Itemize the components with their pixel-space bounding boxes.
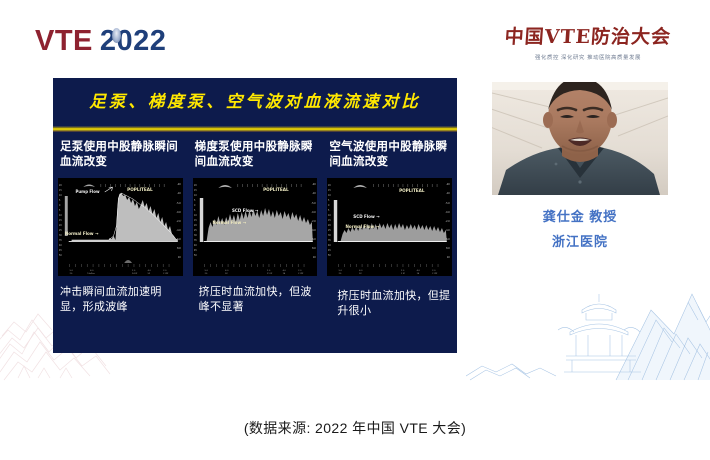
- svg-text:-4.0: -4.0: [176, 229, 181, 232]
- slide-title: 足泵、梯度泵、空气波对血液流速对比: [53, 88, 457, 112]
- svg-text:-20: -20: [312, 183, 316, 186]
- svg-text:SCD Flow →: SCD Flow →: [232, 208, 259, 213]
- svg-text:-0.0: -0.0: [446, 211, 451, 214]
- speaker-name: 龚仕金 教授: [492, 206, 668, 225]
- pagoda-watermark-decoration: [466, 276, 710, 384]
- slide-column-foot-pump: 足泵使用中股静脉瞬间血流改变 201510 505 101520 253035 …: [53, 140, 188, 319]
- svg-text:Pump Flow: Pump Flow: [76, 189, 100, 194]
- slide-column-air-wave: 空气波使用中股静脉瞬间血流改变 201510 505 101520 253035…: [322, 140, 457, 319]
- svg-text:-10: -10: [177, 192, 181, 195]
- column-heading: 空气波使用中股静脉瞬间血流改变: [327, 140, 452, 172]
- presentation-slide: 足泵、梯度泵、空气波对血液流速对比 足泵使用中股静脉瞬间血流改变 201510 …: [53, 78, 457, 353]
- brand-year-text: 2022: [100, 25, 167, 57]
- congress-logo-title: 中国VTE防治大会: [492, 22, 684, 49]
- column-caption: 冲击瞬间血流加速明显，形成波峰: [58, 285, 183, 315]
- svg-text:8.0: 8.0: [447, 247, 451, 250]
- svg-text:2 IPP: 2 IPP: [433, 273, 439, 275]
- svg-text:-2.0: -2.0: [176, 220, 181, 223]
- ultrasound-image-air-wave: 201510 505 101520 253035 404550 -20-1: [327, 178, 452, 276]
- speaker-video-thumbnail[interactable]: [492, 82, 668, 195]
- brand-vte-text: VTE: [35, 25, 93, 57]
- source-caption: (数据来源: 2022 年中国 VTE 大会): [0, 418, 710, 438]
- svg-text:8.0: 8.0: [312, 247, 316, 250]
- svg-text:-2.0: -2.0: [446, 220, 451, 223]
- speaker-organization: 浙江医院: [492, 231, 668, 250]
- svg-text:Normal Flow →: Normal Flow →: [346, 224, 380, 229]
- svg-text:6.0: 6.0: [447, 238, 451, 241]
- svg-text:TdnPwr: TdnPwr: [87, 272, 95, 275]
- svg-text:21 fP: 21 fP: [267, 273, 273, 275]
- congress-logo: 中国VTE防治大会 强化质控 深化研究 推动医院高质量发展: [493, 22, 683, 61]
- svg-text:-4.0: -4.0: [446, 229, 451, 232]
- ultrasound-image-foot-pump: 201510 505 101520 253035 404550: [58, 178, 183, 276]
- svg-text:Normal Flow →: Normal Flow →: [65, 231, 99, 236]
- svg-text:2 IPP: 2 IPP: [163, 273, 169, 275]
- svg-text:-5.0: -5.0: [446, 202, 451, 205]
- column-heading: 梯度泵使用中股静脉瞬间血流改变: [193, 140, 318, 172]
- svg-text:SCD Flow →: SCD Flow →: [354, 214, 381, 219]
- svg-text:POPLITEAL: POPLITEAL: [263, 187, 289, 192]
- ultrasound-image-gradient-pump: 201510 505 101520 253035 404550 -20-1: [193, 178, 318, 276]
- svg-text:2 IPP: 2 IPP: [298, 273, 304, 275]
- svg-text:POPLITEAL: POPLITEAL: [399, 188, 425, 193]
- svg-text:-20: -20: [446, 183, 450, 186]
- slide-columns: 足泵使用中股静脉瞬间血流改变 201510 505 101520 253035 …: [53, 140, 457, 319]
- congress-logo-subtitle: 强化质控 深化研究 推动医院高质量发展: [493, 53, 683, 61]
- column-caption: 挤压时血流加快，但提升很小: [327, 285, 452, 319]
- svg-text:Normal Flow →: Normal Flow →: [212, 220, 246, 225]
- svg-text:-10: -10: [312, 192, 316, 195]
- svg-text:-5.0: -5.0: [176, 202, 181, 205]
- svg-text:8.0: 8.0: [177, 247, 181, 250]
- svg-text:-10: -10: [446, 192, 450, 195]
- svg-text:24 fP: 24 fP: [132, 273, 138, 275]
- vte-brand-logo: VTE2022: [35, 27, 166, 56]
- column-caption: 挤压时血流加快，但波峰不显著: [193, 285, 318, 315]
- svg-text:-2.0: -2.0: [311, 220, 316, 223]
- svg-text:-0.0: -0.0: [176, 211, 181, 214]
- slide-title-divider: [53, 126, 457, 132]
- svg-text:-0.0: -0.0: [311, 211, 316, 214]
- svg-text:-20: -20: [177, 183, 181, 186]
- slide-column-gradient-pump: 梯度泵使用中股静脉瞬间血流改变 201510 505 101520 253035…: [188, 140, 323, 319]
- column-heading: 足泵使用中股静脉瞬间血流改变: [58, 140, 183, 172]
- svg-text:-5.0: -5.0: [311, 202, 316, 205]
- svg-text:POPLITEAL: POPLITEAL: [127, 187, 153, 192]
- screenshot-page: VTE2022 中国VTE防治大会 强化质控 深化研究 推动医院高质量发展 足泵…: [0, 0, 710, 460]
